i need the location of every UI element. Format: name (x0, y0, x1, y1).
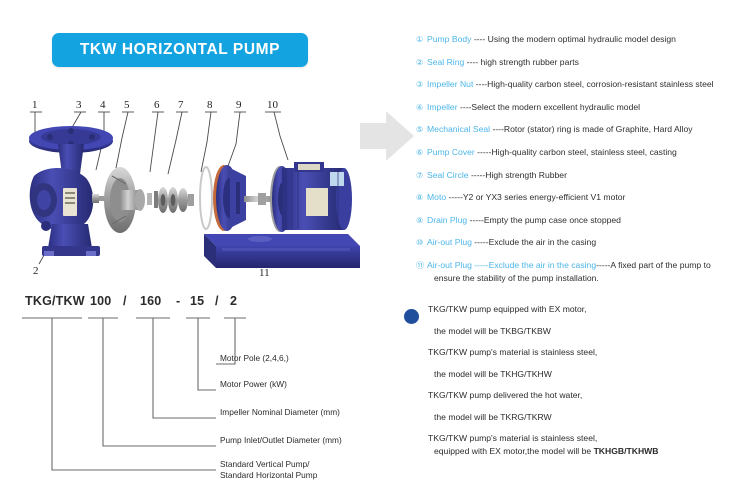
legend-description: Select the modern excellent hydraulic mo… (471, 102, 640, 112)
legend-separator: ----- (472, 237, 489, 247)
legend-item: ④Impeller ----Select the modern excellen… (416, 101, 752, 114)
legend-part-name: Pump Cover (427, 147, 475, 157)
impeller-part (104, 167, 145, 233)
right-arrow-icon (356, 105, 418, 167)
impeller-nut-part (92, 194, 105, 203)
legend-item: ⑤Mechanical Seal ----Rotor (stator) ring… (416, 123, 752, 136)
legend-number: ⑦ (416, 170, 427, 182)
nomenclature-label-motor-power: Motor Power (kW) (220, 379, 287, 390)
legend-separator: ----- (469, 170, 486, 180)
variant-line: the model will be TKRG/TKRW (434, 412, 752, 423)
base-plate-part (204, 234, 360, 268)
legend-description: Y2 or YX3 series energy-efficient V1 mot… (463, 192, 626, 202)
pump-assembly-illustration: 1 3 4 5 6 7 8 9 10 2 11 (8, 96, 360, 286)
legend-number: ③ (416, 79, 427, 91)
legend-number: ⑨ (416, 215, 427, 227)
variant-line: TKG/TKW pump's material is stainless ste… (428, 433, 752, 444)
legend-item: ③Impeller Nut ----High-quality carbon st… (416, 78, 752, 91)
callout-3: 3 (76, 99, 82, 111)
nomenclature-label-motor-pole: Motor Pole (2,4,6,) (220, 353, 289, 364)
nomenclature-leader-lines (8, 294, 408, 494)
legend-part-name: Seal Ring (427, 57, 464, 67)
legend-separator: ----- (446, 192, 463, 202)
legend-number: ⑩ (416, 237, 427, 249)
legend-separator: ---- (490, 124, 504, 134)
legend-item: ⑩Air-out Plug -----Exclude the air in th… (416, 236, 752, 249)
legend-number: ⑥ (416, 147, 427, 159)
legend-item: ⑧Moto -----Y2 or YX3 series energy-effic… (416, 191, 752, 204)
legend-part-name: Moto (427, 192, 446, 202)
pump-body-part (29, 126, 113, 256)
callout-11: 11 (259, 267, 270, 279)
legend-number: ④ (416, 102, 427, 114)
legend-part-name: Pump Body (427, 34, 471, 44)
callout-8: 8 (207, 99, 213, 111)
callout-9: 9 (236, 99, 242, 111)
legend-item: ⑪Air-out Plug -----Exclude the air in th… (416, 259, 752, 284)
legend-description: High strength Rubber (485, 170, 567, 180)
legend-description: Empty the pump case once stopped (484, 215, 621, 225)
legend-number: ② (416, 57, 427, 69)
nomenclature-label-standard-vert: Standard Vertical Pump/ (220, 459, 309, 470)
variant-line-with-bold: equipped with EX motor,the model will be… (434, 446, 752, 457)
parts-legend-list: ①Pump Body ---- Using the modern optimal… (416, 33, 752, 294)
legend-description: high strength rubber parts (481, 57, 579, 67)
product-spec-sheet: TKW HORIZONTAL PUMP (0, 0, 756, 500)
variant-line: TKG/TKW pump delivered the hot water, (428, 390, 752, 401)
legend-separator: ---- (458, 102, 472, 112)
exploded-pump-diagram: 1 3 4 5 6 7 8 9 10 2 11 (8, 96, 360, 286)
legend-item: ②Seal Ring ---- high strength rubber par… (416, 56, 752, 69)
legend-separator: ----- (475, 147, 492, 157)
legend-separator: ---- (464, 57, 480, 67)
legend-number: ⑤ (416, 124, 427, 136)
motor-part (244, 162, 352, 232)
callout-10: 10 (267, 99, 279, 111)
legend-separator: ---- (471, 34, 487, 44)
legend-part-name: Air-out Plug (427, 260, 472, 270)
legend-part-name: Seal Circle (427, 170, 469, 180)
legend-description: Exclude the air in the casing (489, 237, 597, 247)
variant-line: TKG/TKW pump equipped with EX motor, (428, 304, 752, 315)
legend-part-name: Drain Plug (427, 215, 467, 225)
legend-number: ⑪ (416, 260, 427, 272)
variant-line: the model will be TKHG/TKHW (434, 369, 752, 380)
legend-number: ① (416, 34, 427, 46)
legend-part-name: Mechanical Seal (427, 124, 490, 134)
page-title: TKW HORIZONTAL PUMP (52, 41, 308, 59)
nomenclature-label-impeller-dia: Impeller Nominal Diameter (mm) (220, 407, 340, 418)
variant-model-code: TKHGB/TKHWB (594, 446, 659, 456)
model-variants-block: TKG/TKW pump equipped with EX motor, the… (404, 304, 752, 468)
mechanical-seal-part (147, 187, 194, 213)
nomenclature-label-inlet-outlet: Pump Inlet/Outlet Diameter (mm) (220, 435, 342, 446)
callout-7: 7 (178, 99, 184, 111)
callout-6: 6 (154, 99, 160, 111)
bullet-icon (404, 309, 419, 324)
legend-description: High-quality carbon steel, stainless ste… (491, 147, 676, 157)
legend-description: Rotor (stator) ring is made of Graphite,… (504, 124, 693, 134)
legend-part-name: Impeller Nut (427, 79, 473, 89)
nomenclature-label-standard-horiz: Standard Horizontal Pump (220, 470, 317, 481)
callout-4: 4 (100, 99, 106, 111)
variant-line-list: TKG/TKW pump equipped with EX motor, the… (428, 304, 752, 457)
legend-item: ⑨Drain Plug -----Empty the pump case onc… (416, 214, 752, 227)
legend-separator: ---- (473, 79, 487, 89)
legend-separator: ----- (472, 260, 489, 270)
callout-2: 2 (33, 265, 39, 277)
title-banner: TKW HORIZONTAL PUMP (52, 33, 308, 67)
callout-1: 1 (32, 99, 38, 111)
pump-cover-part (213, 165, 246, 231)
legend-item: ⑥Pump Cover -----High-quality carbon ste… (416, 146, 752, 159)
legend-item: ⑦Seal Circle -----High strength Rubber (416, 169, 752, 182)
seal-circle-part (200, 167, 212, 229)
legend-description: Exclude the air in the casing (489, 260, 597, 270)
legend-description: High-quality carbon steel, corrosion-res… (487, 79, 713, 89)
model-nomenclature: TKG/TKW 100 / 160 - 15 / 2 (8, 294, 408, 494)
callout-5: 5 (124, 99, 130, 111)
variant-line: the model will be TKBG/TKBW (434, 326, 752, 337)
variant-line: TKG/TKW pump's material is stainless ste… (428, 347, 752, 358)
legend-part-name: Air-out Plug (427, 237, 472, 247)
legend-description: Using the modern optimal hydraulic model… (488, 34, 676, 44)
variant-line-text: equipped with EX motor,the model will be (434, 446, 594, 456)
legend-description-extra: -----A fixed part of the pump to (596, 260, 711, 270)
legend-separator: ----- (467, 215, 484, 225)
legend-description-continued: ensure the stability of the pump install… (434, 272, 752, 284)
legend-number: ⑧ (416, 192, 427, 204)
legend-part-name: Impeller (427, 102, 458, 112)
legend-item: ①Pump Body ---- Using the modern optimal… (416, 33, 752, 46)
